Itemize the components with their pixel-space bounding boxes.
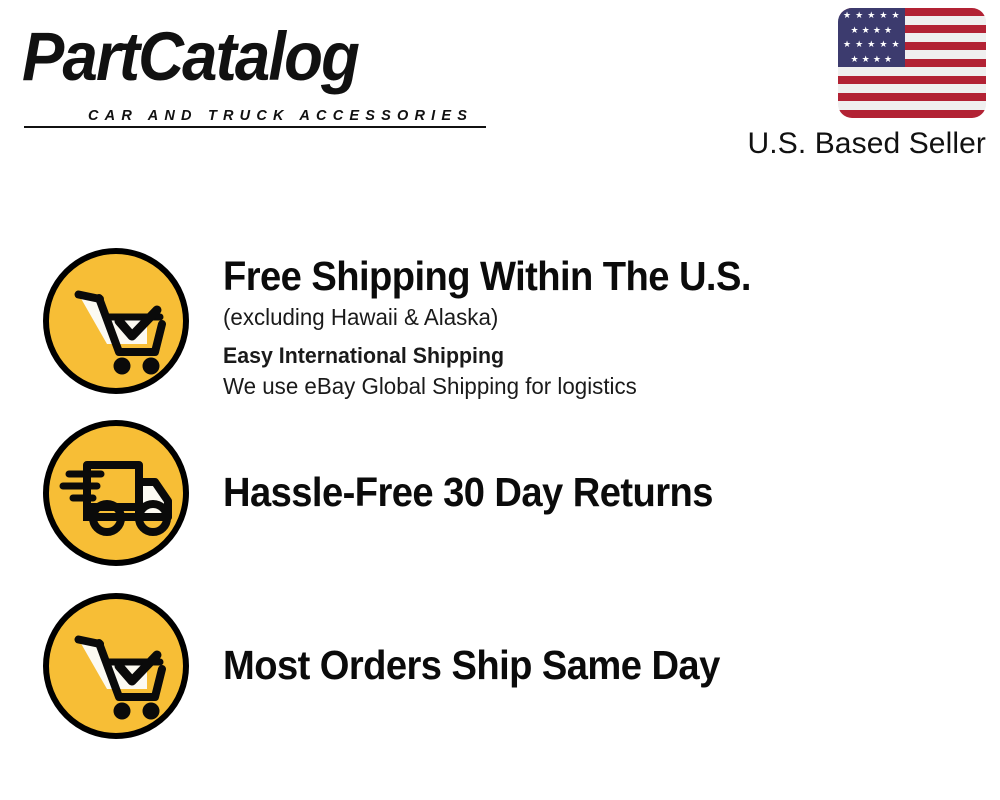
feature-title: Most Orders Ship Same Day bbox=[223, 643, 911, 688]
feature-note: (excluding Hawaii & Alaska) bbox=[223, 302, 941, 332]
brand-tagline: CAR AND TRUCK ACCESSORIES bbox=[88, 108, 473, 124]
feature-text-block: Hassle-Free 30 Day Returns bbox=[223, 470, 963, 515]
brand-wordmark: PartCatalog bbox=[22, 20, 358, 94]
feature-title: Hassle-Free 30 Day Returns bbox=[223, 470, 911, 515]
brand-underline bbox=[24, 126, 486, 128]
feature-text-block: Free Shipping Within The U.S. (excluding… bbox=[223, 254, 963, 401]
flag-canton: ★★★★★ ★★★★ ★★★★★ ★★★★ bbox=[838, 8, 905, 67]
shopping-cart-check-icon bbox=[43, 248, 189, 394]
us-flag-icon: ★★★★★ ★★★★ ★★★★★ ★★★★ bbox=[838, 8, 986, 118]
us-based-seller-block: ★★★★★ ★★★★ ★★★★★ ★★★★ U.S. Based Seller bbox=[714, 8, 986, 161]
feature-text-block: Most Orders Ship Same Day bbox=[223, 643, 963, 688]
feature-subtext: We use eBay Global Shipping for logistic… bbox=[223, 371, 941, 401]
delivery-truck-icon bbox=[43, 420, 189, 566]
seller-label: U.S. Based Seller bbox=[714, 127, 986, 161]
brand-logo: PartCatalog CAR AND TRUCK ACCESSORIES bbox=[22, 20, 492, 120]
feature-title: Free Shipping Within The U.S. bbox=[223, 254, 911, 299]
shopping-cart-check-icon bbox=[43, 593, 189, 739]
promo-banner: PartCatalog CAR AND TRUCK ACCESSORIES ★★… bbox=[0, 0, 1000, 800]
feature-subtitle: Easy International Shipping bbox=[223, 341, 941, 371]
